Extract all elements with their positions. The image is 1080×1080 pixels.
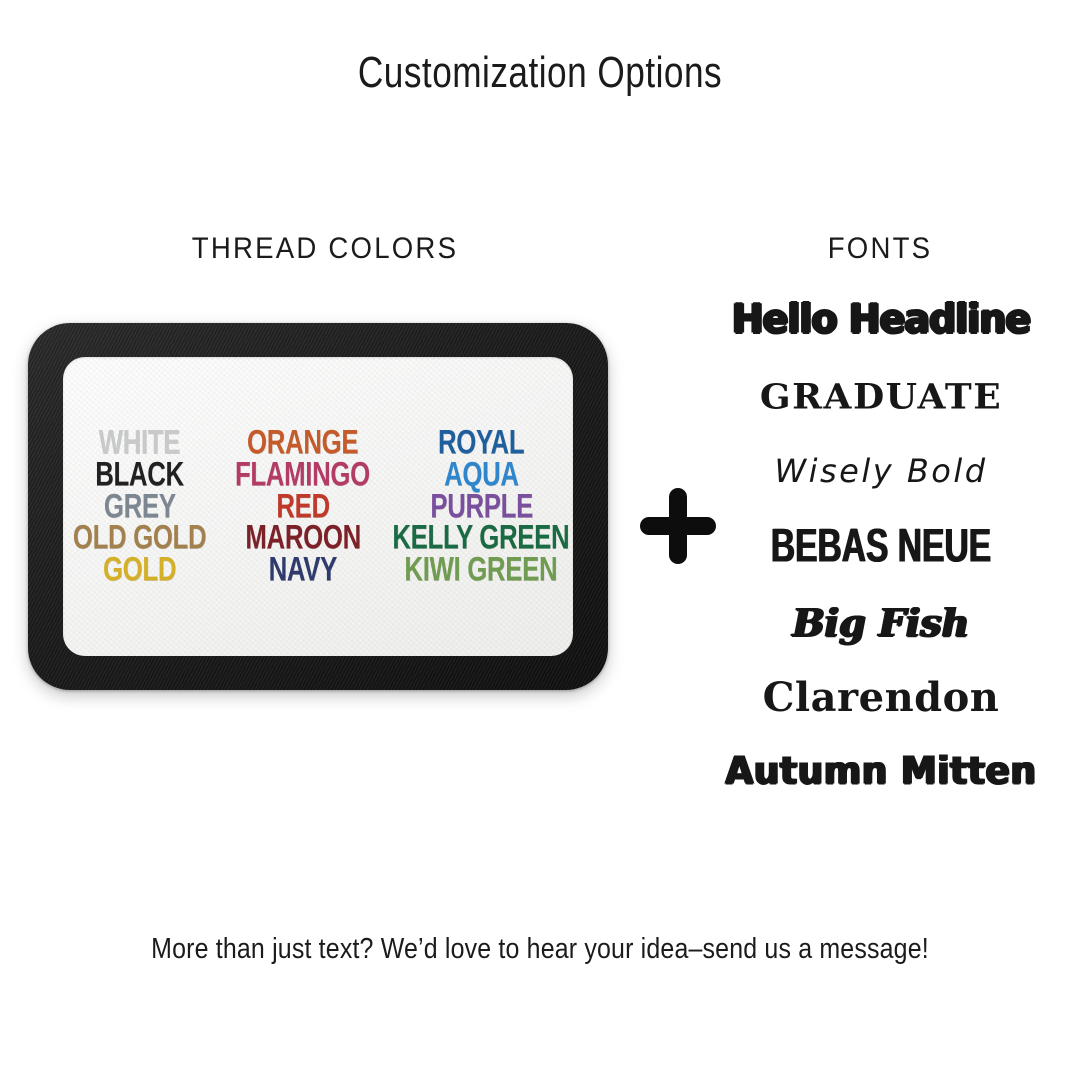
font-samples-list: Hello HeadlineGRADUATEWisely BoldBEBAS N… (700, 300, 1062, 790)
font-sample-clarendon: Clarendon (700, 678, 1062, 718)
page-title: Customization Options (108, 48, 972, 98)
fonts-heading: FONTS (714, 232, 1045, 266)
thread-color-swatch-label: KIWI GREEN (405, 552, 558, 588)
patch-face: WHITEBLACKGREYOLD GOLDGOLD ORANGEFLAMING… (63, 357, 573, 656)
font-sample-big-fish: Big Fish (700, 604, 1062, 642)
thread-color-columns: WHITEBLACKGREYOLD GOLDGOLD ORANGEFLAMING… (63, 357, 573, 656)
thread-color-swatch-label: GOLD (103, 552, 176, 588)
thread-color-column: ORANGEFLAMINGOREDMAROONNAVY (216, 427, 389, 586)
plus-icon-vertical-bar (669, 488, 687, 564)
font-sample-graduate: GRADUATE (700, 380, 1062, 415)
thread-color-column: ROYALAQUAPURPLEKELLY GREENKIWI GREEN (389, 427, 573, 586)
thread-colors-heading: THREAD COLORS (77, 232, 574, 266)
thread-color-swatch-label: NAVY (268, 552, 336, 588)
font-sample-bebas-neue: BEBAS NEUE (736, 522, 1026, 569)
font-sample-hello-headline: Hello Headline (700, 299, 1062, 339)
thread-colors-patch: WHITEBLACKGREYOLD GOLDGOLD ORANGEFLAMING… (28, 323, 608, 690)
footer-note: More than just text? We’d love to hear y… (76, 933, 1005, 966)
thread-color-column: WHITEBLACKGREYOLD GOLDGOLD (63, 427, 216, 586)
font-sample-autumn-mitten: Autumn Mitten (700, 753, 1062, 791)
font-sample-wisely-bold: Wisely Bold (700, 455, 1062, 487)
